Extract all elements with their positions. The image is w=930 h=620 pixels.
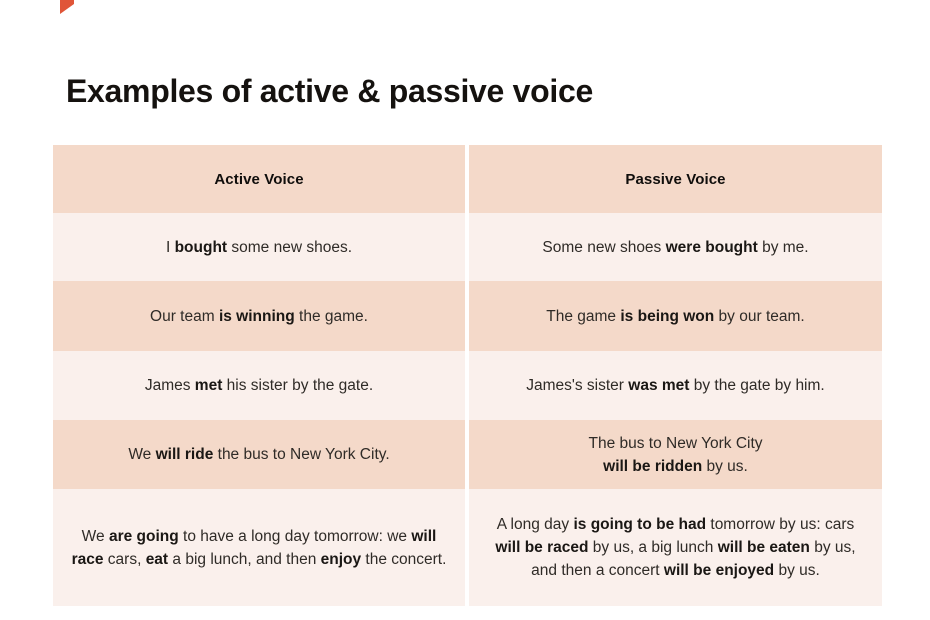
cell-passive-voice: James's sister was met by the gate by hi… bbox=[469, 351, 882, 420]
cell-passive-voice: Some new shoes were bought by me. bbox=[469, 213, 882, 281]
cell-active-voice: We will ride the bus to New York City. bbox=[53, 420, 465, 489]
cell-passive-voice: A long day is going to be had tomorrow b… bbox=[469, 489, 882, 606]
table-row: James met his sister by the gate. James'… bbox=[53, 351, 882, 420]
column-header-active-voice: Active Voice bbox=[53, 145, 465, 213]
table-row: Our team is winning the game. The game i… bbox=[53, 281, 882, 351]
column-header-passive-voice: Passive Voice bbox=[469, 145, 882, 213]
cell-active-voice: Our team is winning the game. bbox=[53, 281, 465, 351]
brand-logo-icon bbox=[48, 0, 92, 28]
table-row: I bought some new shoes. Some new shoes … bbox=[53, 213, 882, 281]
table-header-row: Active Voice Passive Voice bbox=[53, 145, 882, 213]
page-title: Examples of active & passive voice bbox=[66, 73, 593, 110]
table-row: We are going to have a long day tomorrow… bbox=[53, 489, 882, 606]
active-passive-voice-table: Active Voice Passive Voice I bought some… bbox=[53, 145, 882, 606]
cell-active-voice: I bought some new shoes. bbox=[53, 213, 465, 281]
document-page: Examples of active & passive voice Activ… bbox=[0, 0, 930, 620]
cell-active-voice: We are going to have a long day tomorrow… bbox=[53, 489, 465, 606]
cell-passive-voice: The bus to New York Citywill be ridden b… bbox=[469, 420, 882, 489]
cell-active-voice: James met his sister by the gate. bbox=[53, 351, 465, 420]
cell-passive-voice: The game is being won by our team. bbox=[469, 281, 882, 351]
table-row: We will ride the bus to New York City. T… bbox=[53, 420, 882, 489]
